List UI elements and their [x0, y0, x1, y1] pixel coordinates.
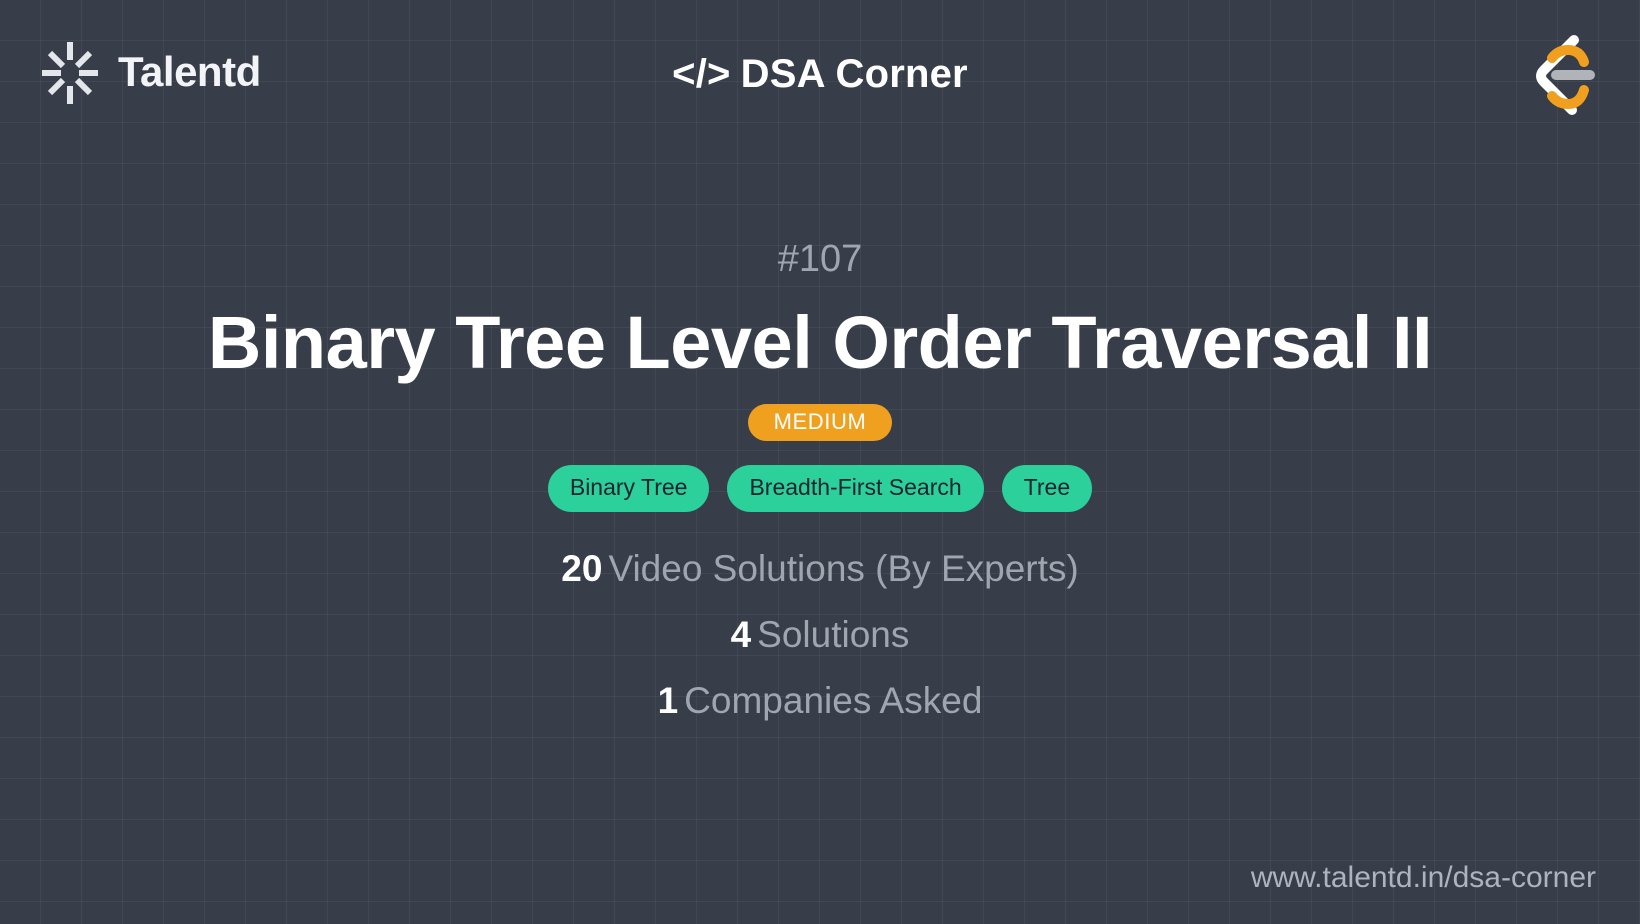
code-brackets-icon: </> [672, 52, 730, 96]
topic-tag[interactable]: Tree [1002, 465, 1092, 512]
footer: www.talentd.in/dsa-corner [0, 832, 1640, 924]
main-content: #107 Binary Tree Level Order Traversal I… [0, 152, 1640, 832]
stat-label: Solutions [757, 614, 909, 655]
stat-row: 1Companies Asked [658, 682, 983, 719]
stat-label: Companies Asked [684, 680, 982, 721]
header-title-text: DSA Corner [741, 52, 968, 96]
stat-value: 1 [658, 680, 679, 721]
topic-tag[interactable]: Breadth-First Search [727, 465, 983, 512]
header: Talentd </>DSA Corner [0, 0, 1640, 152]
stat-value: 4 [731, 614, 752, 655]
topic-tags: Binary Tree Breadth-First Search Tree [548, 465, 1092, 512]
stats-list: 20Video Solutions (By Experts) 4Solution… [561, 550, 1078, 719]
page-title: </>DSA Corner [0, 52, 1640, 97]
problem-title: Binary Tree Level Order Traversal II [208, 304, 1432, 382]
leetcode-logo-icon [1522, 28, 1600, 116]
footer-url[interactable]: www.talentd.in/dsa-corner [1251, 863, 1596, 893]
stat-value: 20 [561, 548, 602, 589]
dsa-corner-problem-card: Talentd </>DSA Corner #107 Binary Tree L… [0, 0, 1640, 924]
topic-tag[interactable]: Binary Tree [548, 465, 710, 512]
difficulty-badge: MEDIUM [748, 404, 893, 441]
stat-label: Video Solutions (By Experts) [608, 548, 1078, 589]
stat-row: 4Solutions [731, 616, 910, 653]
stat-row: 20Video Solutions (By Experts) [561, 550, 1078, 587]
problem-number: #107 [778, 240, 863, 278]
